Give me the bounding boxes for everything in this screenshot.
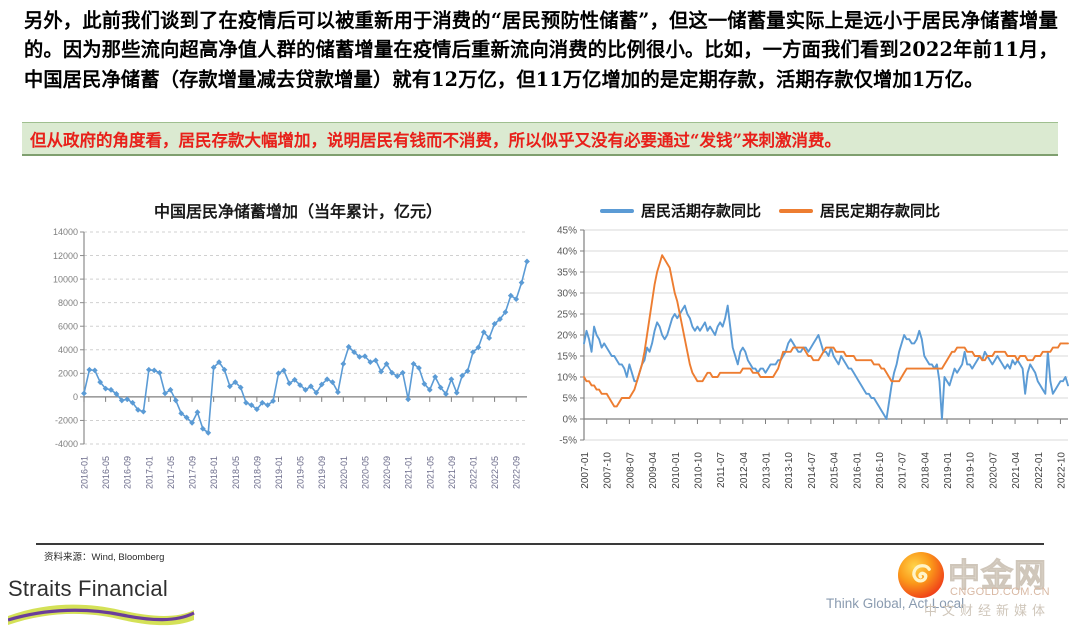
svg-text:2018-04: 2018-04 <box>920 452 931 489</box>
svg-text:2014-07: 2014-07 <box>807 452 818 489</box>
svg-text:2015-04: 2015-04 <box>830 452 841 489</box>
svg-text:14000: 14000 <box>53 227 78 237</box>
chart-left-net-savings: 中国居民净储蓄增加（当年累计，亿元） -4000-200002000400060… <box>22 198 534 498</box>
svg-text:2021-04: 2021-04 <box>1011 452 1022 489</box>
chart-left-title: 中国居民净储蓄增加（当年累计，亿元） <box>62 198 534 222</box>
svg-text:2010-10: 2010-10 <box>693 452 704 489</box>
svg-text:2019-05: 2019-05 <box>296 456 306 489</box>
legend-label-time: 居民定期存款同比 <box>820 200 940 221</box>
svg-text:2018-05: 2018-05 <box>231 456 241 489</box>
legend-swatch-time <box>779 209 813 213</box>
highlight-banner-text: 但从政府的角度看，居民存款大幅增加，说明居民有钱而不消费，所以似乎又没有必要通过… <box>22 127 841 151</box>
svg-text:2020-09: 2020-09 <box>382 456 392 489</box>
svg-text:2022-09: 2022-09 <box>512 456 522 489</box>
svg-text:2016-05: 2016-05 <box>101 456 111 489</box>
footer-divider <box>36 543 1044 545</box>
svg-text:8000: 8000 <box>58 298 78 308</box>
chart-right-legend: 居民活期存款同比 居民定期存款同比 <box>600 200 940 221</box>
slide-root: 另外，此前我们谈到了在疫情后可以被重新用于消费的“居民预防性储蓄”，但这一储蓄量… <box>0 0 1080 626</box>
svg-text:0%: 0% <box>563 415 578 426</box>
svg-text:2016-01: 2016-01 <box>80 456 90 489</box>
svg-text:0: 0 <box>73 392 78 402</box>
svg-text:2012-04: 2012-04 <box>739 452 750 489</box>
svg-text:2018-01: 2018-01 <box>209 456 219 489</box>
svg-text:2019-01: 2019-01 <box>943 452 954 489</box>
svg-text:15%: 15% <box>557 352 577 363</box>
svg-text:12000: 12000 <box>53 251 78 261</box>
chart-right-deposit-yoy: 居民活期存款同比 居民定期存款同比 -5%0%5%10%15%20%25%30%… <box>540 204 1074 504</box>
svg-text:-2000: -2000 <box>55 416 78 426</box>
svg-text:6000: 6000 <box>58 321 78 331</box>
svg-text:2019-09: 2019-09 <box>317 456 327 489</box>
svg-text:2018-09: 2018-09 <box>252 456 262 489</box>
svg-text:5%: 5% <box>563 394 578 405</box>
svg-text:30%: 30% <box>557 289 577 300</box>
straits-financial-logo: Straits Financial <box>8 576 208 622</box>
svg-text:20%: 20% <box>557 331 577 342</box>
legend-item-time: 居民定期存款同比 <box>779 200 940 221</box>
svg-text:45%: 45% <box>557 226 577 237</box>
svg-text:2022-10: 2022-10 <box>1056 452 1067 489</box>
svg-text:35%: 35% <box>557 268 577 279</box>
svg-text:2007-10: 2007-10 <box>603 452 614 489</box>
svg-text:2010-01: 2010-01 <box>671 452 682 489</box>
svg-text:2017-09: 2017-09 <box>188 456 198 489</box>
svg-text:2022-01: 2022-01 <box>468 456 478 489</box>
svg-text:2020-01: 2020-01 <box>339 456 349 489</box>
svg-text:2022-01: 2022-01 <box>1034 452 1045 489</box>
svg-text:-5%: -5% <box>559 436 577 447</box>
svg-text:10000: 10000 <box>53 274 78 284</box>
svg-text:2016-01: 2016-01 <box>852 452 863 489</box>
swirl-glyph-icon <box>909 562 934 588</box>
svg-text:2021-01: 2021-01 <box>404 456 414 489</box>
chart-right-plot: -5%0%5%10%15%20%25%30%35%40%45%2007-0120… <box>540 222 1074 494</box>
svg-text:2007-01: 2007-01 <box>580 452 591 489</box>
svg-text:40%: 40% <box>557 247 577 258</box>
svg-text:2020-05: 2020-05 <box>360 456 370 489</box>
svg-text:4000: 4000 <box>58 345 78 355</box>
svg-text:2022-05: 2022-05 <box>490 456 500 489</box>
svg-text:2008-07: 2008-07 <box>625 452 636 489</box>
svg-text:2009-04: 2009-04 <box>648 452 659 489</box>
cngold-watermark: 中金网 CNGOLD.COM.CN 中文财经新媒体 <box>898 550 1074 620</box>
svg-text:2011-07: 2011-07 <box>716 452 727 488</box>
legend-swatch-demand <box>600 209 634 213</box>
legend-label-demand: 居民活期存款同比 <box>641 200 761 221</box>
svg-text:25%: 25% <box>557 310 577 321</box>
svg-text:2016-10: 2016-10 <box>875 452 886 489</box>
cngold-url: CNGOLD.COM.CN <box>950 586 1050 598</box>
svg-text:2017-01: 2017-01 <box>144 456 154 489</box>
logo-wordmark: Straits Financial <box>8 576 168 602</box>
logo-wave-icon <box>8 600 208 626</box>
highlight-banner: 但从政府的角度看，居民存款大幅增加，说明居民有钱而不消费，所以似乎又没有必要通过… <box>22 122 1058 156</box>
cngold-badge-icon <box>898 552 944 598</box>
svg-text:2021-05: 2021-05 <box>425 456 435 489</box>
body-paragraph: 另外，此前我们谈到了在疫情后可以被重新用于消费的“居民预防性储蓄”，但这一储蓄量… <box>24 6 1058 94</box>
svg-text:2013-10: 2013-10 <box>784 452 795 489</box>
svg-text:-4000: -4000 <box>55 439 78 449</box>
chart-left-plot: -4000-2000020004000600080001000012000140… <box>22 222 534 500</box>
svg-text:2020-07: 2020-07 <box>988 452 999 489</box>
svg-text:2021-09: 2021-09 <box>447 456 457 489</box>
svg-text:2016-09: 2016-09 <box>123 456 133 489</box>
svg-text:2000: 2000 <box>58 369 78 379</box>
cngold-subtitle: 中文财经新媒体 <box>924 600 1050 619</box>
svg-text:2017-05: 2017-05 <box>166 456 176 489</box>
svg-text:2017-07: 2017-07 <box>898 452 909 489</box>
svg-text:2019-10: 2019-10 <box>966 452 977 489</box>
legend-item-demand: 居民活期存款同比 <box>600 200 761 221</box>
svg-text:2019-01: 2019-01 <box>274 456 284 489</box>
svg-text:2013-01: 2013-01 <box>762 452 773 489</box>
svg-text:10%: 10% <box>557 373 577 384</box>
source-note: 资料来源：Wind, Bloomberg <box>44 549 164 563</box>
